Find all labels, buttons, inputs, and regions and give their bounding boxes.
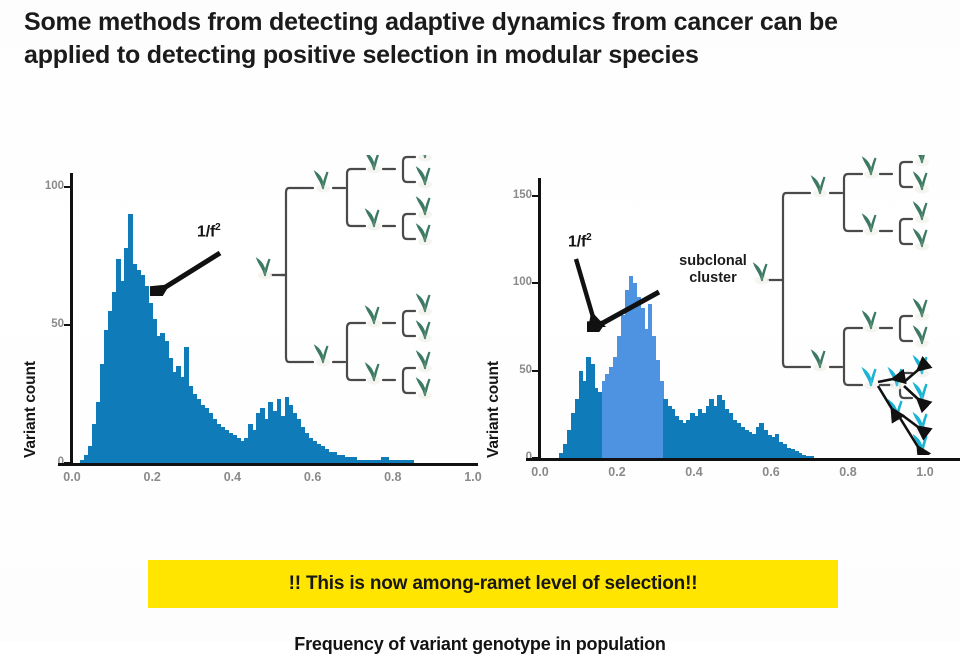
y-tick-label: 150 xyxy=(498,189,532,201)
right-annotation-arrow-2 xyxy=(587,288,665,332)
x-tick-label: 1.0 xyxy=(916,465,933,479)
x-axis-title: Frequency of variant genotype in populat… xyxy=(0,634,960,655)
figure-area: Variant count 050100 0.00.20.40.60.81.0 … xyxy=(0,140,960,530)
right-y-axis-label: Variant count xyxy=(485,361,503,458)
y-tick-label: 50 xyxy=(498,364,532,376)
x-tick-label: 0.6 xyxy=(304,470,321,484)
x-tick-label: 0.2 xyxy=(608,465,625,479)
left-annotation-arrow xyxy=(150,248,225,296)
subclonal-line-1: subclonal xyxy=(679,253,747,269)
left-annotation-1f2: 1/f2 xyxy=(197,222,220,241)
highlight-banner-text: !! This is now among-ramet level of sele… xyxy=(289,573,698,595)
y-tick-label: 0 xyxy=(30,456,64,468)
histogram-bar xyxy=(409,460,414,463)
x-tick-label: 0.0 xyxy=(63,470,80,484)
right-x-axis-line xyxy=(526,458,960,461)
y-tick-label: 100 xyxy=(498,276,532,288)
left-y-axis-label: Variant count xyxy=(22,361,40,458)
mutant-leaf-group xyxy=(864,357,929,455)
right-lineage-tree xyxy=(752,155,960,455)
left-chart-panel: Variant count 050100 0.00.20.40.60.81.0 … xyxy=(0,140,480,480)
y-tick-label: 100 xyxy=(30,180,64,192)
slide-title: Some methods from detecting adaptive dyn… xyxy=(24,6,936,72)
y-tick-label: 0 xyxy=(498,451,532,463)
subclonal-line-2: cluster xyxy=(689,270,737,286)
x-tick-label: 0.0 xyxy=(531,465,548,479)
right-annotation-1f2: 1/f2 xyxy=(568,232,591,251)
x-tick-label: 0.4 xyxy=(224,470,241,484)
histogram-bar xyxy=(810,456,815,458)
y-tick-label: 50 xyxy=(30,318,64,330)
title-line-2: applied to detecting positive selection … xyxy=(24,39,936,72)
x-tick-label: 0.2 xyxy=(143,470,160,484)
x-tick-label: 0.6 xyxy=(762,465,779,479)
x-tick-label: 0.8 xyxy=(384,470,401,484)
right-chart-panel: Variant count 050100150 0.00.20.40.60.81… xyxy=(480,140,960,480)
slide-canvas: Some methods from detecting adaptive dyn… xyxy=(0,0,960,642)
x-tick-label: 0.8 xyxy=(839,465,856,479)
left-x-axis-line xyxy=(58,463,478,466)
x-tick-label: 0.4 xyxy=(685,465,702,479)
title-line-1: Some methods from detecting adaptive dyn… xyxy=(24,6,936,39)
highlight-banner: !! This is now among-ramet level of sele… xyxy=(148,560,838,608)
left-lineage-tree xyxy=(255,155,465,400)
